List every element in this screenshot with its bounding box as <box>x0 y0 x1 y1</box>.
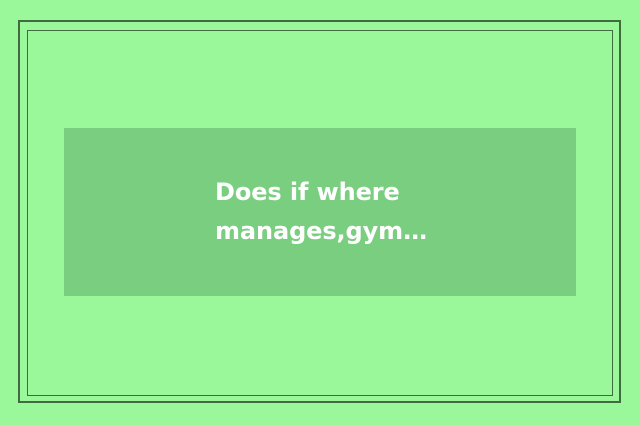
content-panel: Does if where manages,gymnas... <box>64 128 576 296</box>
headline-container: Does if where manages,gymnas... <box>215 173 428 255</box>
headline-text: Does if where manages,gymnas... <box>215 173 428 251</box>
screenshot-canvas: Does if where manages,gymnas... <box>0 0 640 425</box>
